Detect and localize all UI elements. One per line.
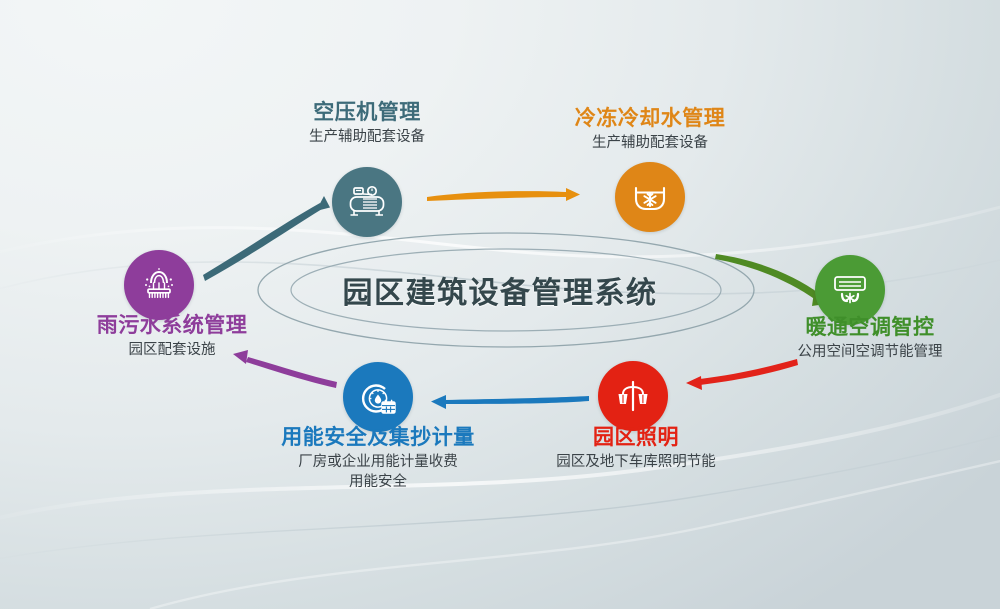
- arrow-compressor-to-chilled: [427, 188, 580, 201]
- label-compressor: 空压机管理 生产辅助配套设备: [247, 100, 487, 148]
- label-energy-metering-title: 用能安全及集抄计量: [258, 425, 498, 451]
- chilled-water-basin-icon: [630, 179, 670, 215]
- label-lighting-subtitle: 园区及地下车库照明节能: [518, 453, 754, 473]
- node-energy-metering[interactable]: [343, 362, 413, 432]
- air-conditioner-icon: [830, 271, 870, 309]
- water-shower-icon: [138, 265, 180, 305]
- street-lamp-icon: [613, 377, 653, 415]
- arrow-lighting-to-metering: [431, 395, 589, 409]
- label-water-system-title: 雨污水系统管理: [62, 313, 282, 339]
- energy-meter-calendar-icon: [357, 378, 399, 416]
- label-hvac-title: 暖通空调智控: [752, 315, 988, 341]
- label-water-system-subtitle: 园区配套设施: [62, 341, 282, 361]
- node-compressor[interactable]: [332, 167, 402, 237]
- label-energy-metering-subtitle-line1: 厂房或企业用能计量收费: [258, 453, 498, 473]
- label-lighting: 园区照明 园区及地下车库照明节能: [518, 425, 754, 473]
- diagram-canvas: 园区建筑设备管理系统 空压机管理 生产辅助配套设备: [0, 0, 1000, 609]
- node-chilled-water[interactable]: [615, 162, 685, 232]
- label-hvac: 暖通空调智控 公用空间空调节能管理: [752, 315, 988, 363]
- node-water-system[interactable]: [124, 250, 194, 320]
- label-lighting-title: 园区照明: [518, 425, 754, 451]
- label-chilled-water-title: 冷冻冷却水管理: [530, 106, 770, 132]
- label-energy-metering-subtitle-line2: 用能安全: [258, 473, 498, 493]
- label-chilled-water: 冷冻冷却水管理 生产辅助配套设备: [530, 106, 770, 154]
- label-compressor-subtitle: 生产辅助配套设备: [247, 128, 487, 148]
- label-hvac-subtitle: 公用空间空调节能管理: [752, 343, 988, 363]
- label-water-system: 雨污水系统管理 园区配套设施: [62, 313, 282, 361]
- air-compressor-icon: [347, 184, 387, 220]
- label-compressor-title: 空压机管理: [247, 100, 487, 126]
- label-energy-metering: 用能安全及集抄计量 厂房或企业用能计量收费 用能安全: [258, 425, 498, 492]
- arrow-hvac-to-lighting: [686, 359, 798, 390]
- node-lighting[interactable]: [598, 361, 668, 431]
- label-chilled-water-subtitle: 生产辅助配套设备: [530, 134, 770, 154]
